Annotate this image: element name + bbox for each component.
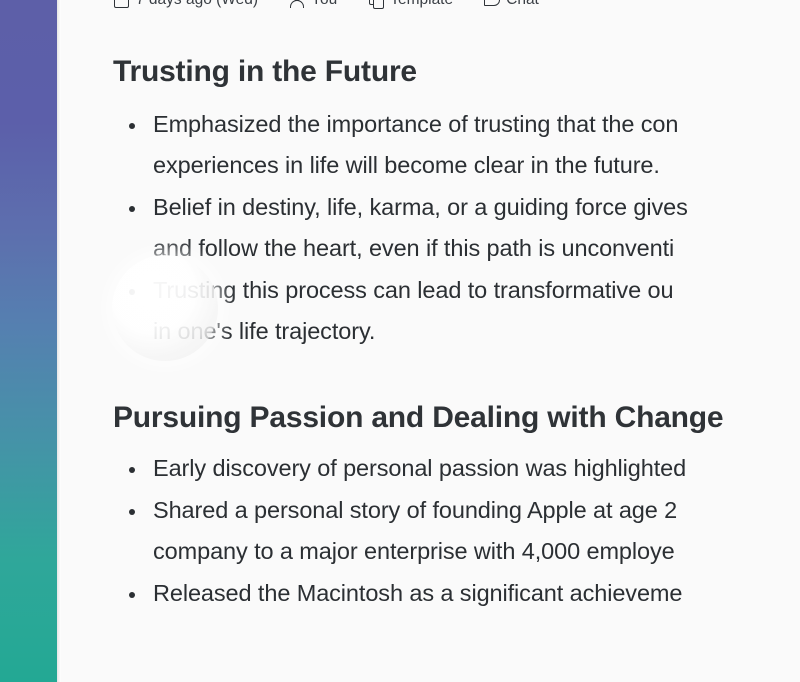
- section-heading-trusting-in-the-future: Trusting in the Future: [113, 55, 800, 89]
- chat-icon: [483, 0, 499, 8]
- bullet-line: and follow the heart, even if this path …: [153, 228, 800, 270]
- bullet-line: company to a major enterprise with 4,000…: [153, 531, 800, 573]
- bullet-line: Early discovery of personal passion was …: [153, 448, 800, 490]
- list-item: Early discovery of personal passion was …: [113, 448, 800, 490]
- list-item: Trusting this process can lead to transf…: [113, 270, 800, 353]
- left-gradient-rail: [0, 0, 57, 682]
- meta-item-owner[interactable]: You: [288, 0, 337, 9]
- meta-item-template[interactable]: Template: [367, 0, 453, 9]
- document-content: 7 days ago (Wed) You Template Chat Trust…: [61, 0, 800, 614]
- section-heading-pursuing-passion-and-dealing-with-change: Pursuing Passion and Dealing with Change: [113, 401, 800, 435]
- bullet-list-section-1: Emphasized the importance of trusting th…: [113, 104, 800, 353]
- note-meta-bar: 7 days ago (Wed) You Template Chat: [113, 0, 539, 13]
- meta-owner-label: You: [311, 0, 337, 9]
- list-item: Released the Macintosh as a significant …: [113, 573, 800, 615]
- meta-chat-label: Chat: [506, 0, 539, 9]
- app-root: 7 days ago (Wed) You Template Chat Trust…: [0, 0, 800, 682]
- meta-item-date[interactable]: 7 days ago (Wed): [113, 0, 258, 9]
- bullet-line: Belief in destiny, life, karma, or a gui…: [153, 187, 800, 229]
- bullet-line: Released the Macintosh as a significant …: [153, 573, 800, 615]
- list-item: Shared a personal story of founding Appl…: [113, 490, 800, 573]
- bullet-line: Trusting this process can lead to transf…: [153, 270, 800, 312]
- template-icon: [367, 0, 383, 8]
- person-icon: [288, 0, 304, 8]
- meta-date-label: 7 days ago (Wed): [136, 0, 258, 9]
- rail-shadow-edge: [57, 0, 61, 682]
- document-page: 7 days ago (Wed) You Template Chat Trust…: [61, 0, 800, 682]
- meta-template-label: Template: [390, 0, 453, 9]
- bullet-line: in one's life trajectory.: [153, 311, 800, 353]
- bullet-line: Shared a personal story of founding Appl…: [153, 490, 800, 532]
- bullet-line: Emphasized the importance of trusting th…: [153, 104, 800, 146]
- list-item: Belief in destiny, life, karma, or a gui…: [113, 187, 800, 270]
- bullet-line: experiences in life will become clear in…: [153, 145, 800, 187]
- bullet-list-section-2: Early discovery of personal passion was …: [113, 448, 800, 614]
- meta-item-chat[interactable]: Chat: [483, 0, 539, 9]
- list-item: Emphasized the importance of trusting th…: [113, 104, 800, 187]
- calendar-icon: [113, 0, 129, 8]
